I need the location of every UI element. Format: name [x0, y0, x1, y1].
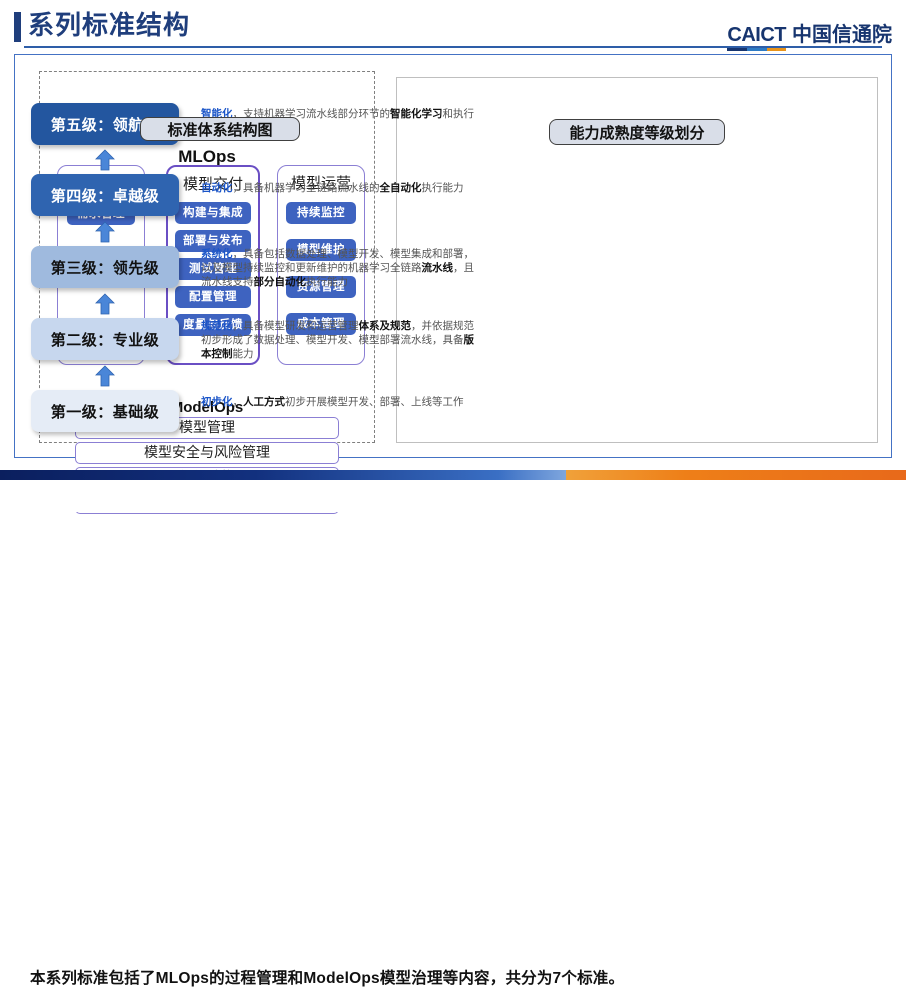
level-box-2[interactable]: 第二级：专业级 — [31, 318, 179, 360]
level-description-2: 规范化，具备模型研发和运营管理体系及规范，并依据规范初步形成了数据处理、模型开发… — [201, 319, 483, 361]
level-label: 第一级：基础级 — [51, 401, 160, 422]
footer-bar-orange — [566, 470, 906, 480]
logo-underline — [727, 48, 786, 51]
level-box-1[interactable]: 第一级：基础级 — [31, 390, 179, 432]
left-panel-caption: 标准体系结构图 — [140, 117, 300, 141]
up-arrow-icon — [94, 365, 116, 387]
level-box-4[interactable]: 第四级：卓越级 — [31, 174, 179, 216]
chip-item[interactable]: 配置管理 — [175, 286, 251, 308]
page-title: 系列标准结构 — [28, 8, 190, 42]
right-panel-caption: 能力成熟度等级划分 — [549, 119, 725, 145]
level-description-1: 初步化，人工方式初步开展模型开发、部署、上线等工作 — [201, 395, 483, 409]
chip-item[interactable]: 持续监控 — [286, 202, 356, 224]
footer-caption-area: 本系列标准包括了MLOps的过程管理和ModelOps模型治理等内容，共分为7个… — [0, 480, 906, 512]
level-label: 第四级：卓越级 — [51, 185, 160, 206]
up-arrow-icon — [94, 149, 116, 171]
level-label: 第二级：专业级 — [51, 329, 160, 350]
modelops-item[interactable]: 模型安全与风险管理 — [75, 442, 339, 464]
footer-color-bar — [0, 470, 906, 480]
mlops-label: MLOps — [39, 147, 375, 167]
slide-root: 系列标准结构 CAICT 中国信通院 标准体系结构图 MLOps 开发管理 需求… — [0, 0, 906, 512]
title-accent-bar — [14, 12, 21, 42]
caict-logo: CAICT 中国信通院 — [727, 18, 892, 47]
level-box-3[interactable]: 第三级：领先级 — [31, 246, 179, 288]
up-arrow-icon — [94, 293, 116, 315]
footer-bar-navy — [0, 470, 566, 480]
level-label: 第三级：领先级 — [51, 257, 160, 278]
up-arrow-icon — [94, 221, 116, 243]
footer-caption: 本系列标准包括了MLOps的过程管理和ModelOps模型治理等内容，共分为7个… — [30, 966, 624, 988]
level-description-4: 自动化，具备机器学习全链路流水线的全自动化执行能力 — [201, 181, 483, 195]
logo-cn-text: 中国信通院 — [792, 18, 892, 47]
slide-header: 系列标准结构 CAICT 中国信通院 — [0, 0, 906, 50]
content-frame: 标准体系结构图 MLOps 开发管理 需求管理 数据工程 模型开发 模型交付 构… — [14, 54, 892, 458]
level-description-3: 系统化，具备包括数据处理、模型开发、模型集成和部署，以及模型持续监控和更新维护的… — [201, 247, 483, 289]
chip-item[interactable]: 构建与集成 — [175, 202, 251, 224]
logo-en-text: CAICT — [727, 24, 786, 47]
